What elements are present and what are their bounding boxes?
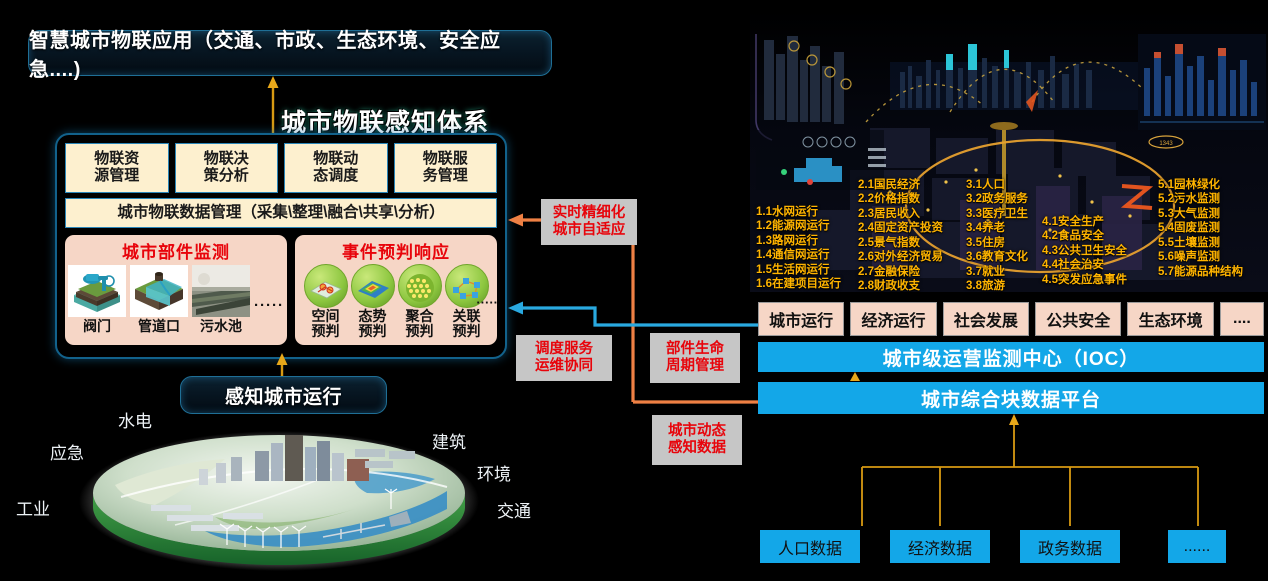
index-item: 3.6教育文化 xyxy=(966,250,1028,264)
capability-row: 物联资 源管理 物联决 策分析 物联动 态调度 物联服 务管理 xyxy=(65,143,497,193)
event-prediction-items: 空间 预判 态势 预判 xyxy=(303,264,489,338)
index-column-2: 2.1国民经济 2.2价格指数 2.3居民收入 2.4固定资产投资 2.5景气指… xyxy=(858,178,943,294)
event-ellipsis: ····· xyxy=(476,295,498,310)
connector-chip-realtime: 实时精细化 城市自适应 xyxy=(541,199,637,245)
aggregation-forecast-icon xyxy=(398,264,442,308)
index-item: 1.2能源网运行 xyxy=(756,219,841,233)
event-prediction-title: 事件预判响应 xyxy=(342,238,450,263)
event-item-situation[interactable]: 态势 预判 xyxy=(350,264,395,338)
index-item: 5.2污水监测 xyxy=(1158,192,1243,206)
index-item: 3.7就业 xyxy=(966,265,1028,279)
data-management-bar[interactable]: 城市物联数据管理（采集\整理\融合\共享\分析） xyxy=(65,198,497,228)
data-source-economy[interactable]: 经济数据 xyxy=(890,530,990,563)
cell-line: 物联决 策分析 xyxy=(204,151,249,185)
disc-label-utilities: 水电 xyxy=(118,407,152,432)
slide-canvas: 智慧城市物联应用（交通、市政、生态环境、安全应急....) 城市物联感知体系 物… xyxy=(0,0,1268,581)
disc-label-building: 建筑 xyxy=(432,428,466,453)
index-item: 1.6在建项目运行 xyxy=(756,277,841,291)
index-item: 5.1园林绿化 xyxy=(1158,178,1243,192)
connector-chip-dynamic: 城市动态 感知数据 xyxy=(652,415,742,465)
event-item-spatial[interactable]: 空间 预判 xyxy=(303,264,348,338)
index-item: 1.1水网运行 xyxy=(756,205,841,219)
index-item: 3.5住房 xyxy=(966,236,1028,250)
index-item: 3.8旅游 xyxy=(966,279,1028,293)
city-iot-sensing-system-panel: 物联资 源管理 物联决 策分析 物联动 态调度 物联服 务管理 城市物联数据管理… xyxy=(55,133,507,359)
index-column-1: 1.1水网运行 1.2能源网运行 1.3路网运行 1.4通信网运行 1.5生活网… xyxy=(756,205,841,292)
data-source-government[interactable]: 政务数据 xyxy=(1020,530,1120,563)
component-monitoring-title: 城市部件监测 xyxy=(122,238,230,263)
tab-economy[interactable]: 经济运行 xyxy=(850,302,936,336)
index-item: 2.4固定资产投资 xyxy=(858,221,943,235)
index-item: 2.5景气指数 xyxy=(858,236,943,250)
disc-label-transport: 交通 xyxy=(497,497,531,522)
sewage-pond-photo xyxy=(192,265,250,317)
index-item: 5.3大气监测 xyxy=(1158,207,1243,221)
index-item: 4.2食品安全 xyxy=(1042,229,1127,243)
index-item: 3.2政务服务 xyxy=(966,192,1028,206)
event-item-aggregation[interactable]: 聚合 预判 xyxy=(397,264,442,338)
event-item-label: 关联 预判 xyxy=(444,309,489,338)
tab-public-security[interactable]: 公共安全 xyxy=(1035,302,1121,336)
disc-label-industry: 工业 xyxy=(16,495,50,520)
component-monitoring-panel: 城市部件监测 xyxy=(65,235,287,345)
svg-text:1343: 1343 xyxy=(1159,141,1173,147)
situation-forecast-icon xyxy=(351,264,395,308)
top-banner-smart-city-applications: 智慧城市物联应用（交通、市政、生态环境、安全应急....) xyxy=(28,30,552,76)
spatial-forecast-icon xyxy=(304,264,348,308)
chip-text: 实时精细化 城市自适应 xyxy=(553,205,626,239)
event-prediction-panel: 事件预判响应 空间 预判 xyxy=(295,235,497,345)
index-item: 2.1国民经济 xyxy=(858,178,943,192)
cell-line: 物联动 态调度 xyxy=(313,151,358,185)
index-item: 5.6噪声监测 xyxy=(1158,250,1243,264)
index-item: 5.5土壤监测 xyxy=(1158,236,1243,250)
index-item: 2.2价格指数 xyxy=(858,192,943,206)
component-item-sewage-pond[interactable]: 污水池 xyxy=(192,265,250,336)
component-item-label: 污水池 xyxy=(192,316,250,336)
tab-more[interactable]: .... xyxy=(1220,302,1264,336)
block-data-platform-bar[interactable]: 城市综合块数据平台 xyxy=(758,382,1264,414)
ioc-bar[interactable]: 城市级运营监测中心（IOC） xyxy=(758,342,1264,372)
pipe-outlet-cutaway-image xyxy=(130,265,188,317)
index-item: 1.4通信网运行 xyxy=(756,248,841,262)
index-item: 5.7能源品种结构 xyxy=(1158,265,1243,279)
component-item-valve[interactable]: 阀门 xyxy=(68,265,126,336)
index-item: 5.4固废监测 xyxy=(1158,221,1243,235)
cell-line: 物联服 务管理 xyxy=(423,151,468,185)
chip-text: 部件生命 周期管理 xyxy=(666,341,724,375)
index-item: 1.3路网运行 xyxy=(756,234,841,248)
component-thumbnails: 阀门 管 xyxy=(68,265,284,336)
cell-line: 物联资 源管理 xyxy=(94,151,139,185)
index-item: 3.1人口 xyxy=(966,178,1028,192)
index-item: 4.5突发应急事件 xyxy=(1042,273,1127,287)
connector-chip-lifecycle: 部件生命 周期管理 xyxy=(650,333,740,383)
monitoring-panels-row: 城市部件监测 xyxy=(65,235,497,345)
index-item: 2.8财政收支 xyxy=(858,279,943,293)
index-item: 4.4社会治安 xyxy=(1042,258,1127,272)
sense-city-operation-box: 感知城市运行 xyxy=(180,376,387,414)
capability-cell-decision[interactable]: 物联决 策分析 xyxy=(175,143,279,193)
index-item: 1.5生活网运行 xyxy=(756,263,841,277)
index-item: 2.6对外经济贸易 xyxy=(858,250,943,264)
index-item: 3.3医疗卫生 xyxy=(966,207,1028,221)
component-item-label: 阀门 xyxy=(68,316,126,336)
component-ellipsis: ····· xyxy=(254,297,284,336)
data-source-more[interactable]: ...... xyxy=(1168,530,1226,563)
disc-label-emergency: 应急 xyxy=(50,439,84,464)
tab-ecological-environment[interactable]: 生态环境 xyxy=(1127,302,1213,336)
disc-label-environment: 环境 xyxy=(477,460,511,485)
index-item: 2.3居民收入 xyxy=(858,207,943,221)
component-item-pipe-outlet[interactable]: 管道口 xyxy=(130,265,188,336)
capability-cell-resource[interactable]: 物联资 源管理 xyxy=(65,143,169,193)
tab-city-operation[interactable]: 城市运行 xyxy=(758,302,844,336)
index-column-4: 4.1安全生产 4.2食品安全 4.3公共卫生安全 4.4社会治安 4.5突发应… xyxy=(1042,215,1127,287)
tab-social-development[interactable]: 社会发展 xyxy=(943,302,1029,336)
chip-text: 城市动态 感知数据 xyxy=(668,423,726,457)
index-item: 4.3公共卫生安全 xyxy=(1042,244,1127,258)
index-item: 3.4养老 xyxy=(966,221,1028,235)
event-item-label: 态势 预判 xyxy=(350,309,395,338)
index-column-3: 3.1人口 3.2政务服务 3.3医疗卫生 3.4养老 3.5住房 3.6教育文… xyxy=(966,178,1028,294)
component-item-label: 管道口 xyxy=(130,316,188,336)
connector-chip-dispatch: 调度服务 运维协同 xyxy=(516,335,612,381)
event-item-label: 空间 预判 xyxy=(303,309,348,338)
index-item: 2.7金融保险 xyxy=(858,265,943,279)
capability-cell-dispatch[interactable]: 物联动 态调度 xyxy=(284,143,388,193)
index-item: 4.1安全生产 xyxy=(1042,215,1127,229)
capability-cell-service[interactable]: 物联服 务管理 xyxy=(394,143,498,193)
event-item-label: 聚合 预判 xyxy=(397,309,442,338)
domain-tabs-row: 城市运行 经济运行 社会发展 公共安全 生态环境 .... xyxy=(758,302,1264,336)
valve-cutaway-image xyxy=(68,265,126,317)
data-source-population[interactable]: 人口数据 xyxy=(760,530,860,563)
data-source-tree-connectors xyxy=(750,414,1268,534)
chip-text: 调度服务 运维协同 xyxy=(535,341,593,375)
index-column-5: 5.1园林绿化 5.2污水监测 5.3大气监测 5.4固废监测 5.5土壤监测 … xyxy=(1158,178,1243,279)
